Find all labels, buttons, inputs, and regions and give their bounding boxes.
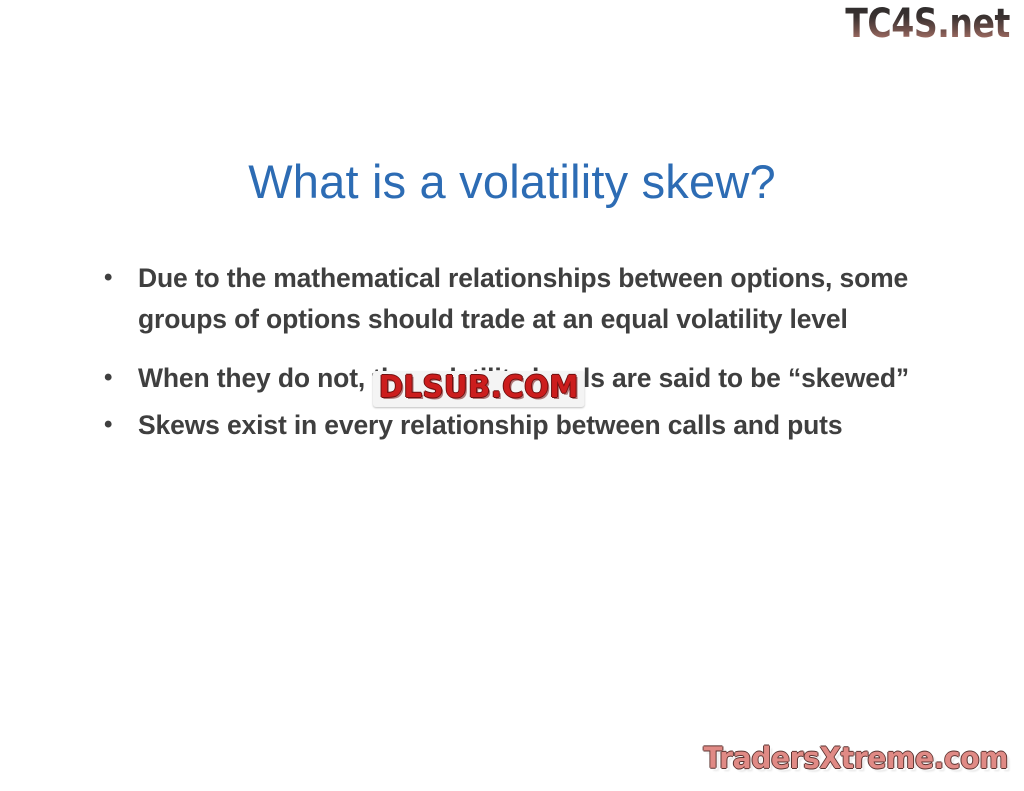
list-item: Skews exist in every relationship betwee… — [98, 405, 950, 446]
tradersxtreme-logo: TradersXtreme.com — [703, 741, 1008, 775]
slide-title: What is a volatility skew? — [0, 153, 1024, 211]
dlsub-watermark: DLSUB.COM — [373, 371, 585, 407]
presentation-slide: TC4S.net What is a volatility skew? Due … — [0, 0, 1024, 791]
list-item: Due to the mathematical relationships be… — [98, 258, 950, 340]
tc4s-logo: TC4S.net — [845, 2, 1010, 46]
bullet-list: Due to the mathematical relationships be… — [98, 258, 950, 446]
